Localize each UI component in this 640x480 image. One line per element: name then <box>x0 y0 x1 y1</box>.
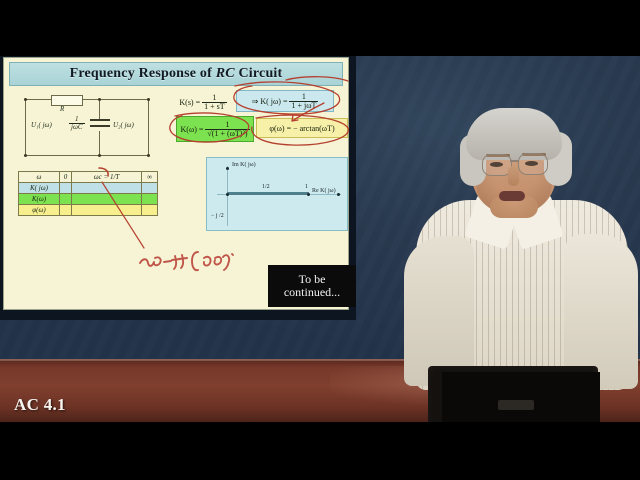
table-row-label: φ(ω) <box>19 205 60 216</box>
wire-cap-top <box>99 99 100 119</box>
letterbox-top <box>0 0 640 56</box>
ink-letter-c-u <box>140 259 154 266</box>
minus-j-half-label: − j /2 <box>211 213 224 219</box>
circuit-node <box>147 154 150 157</box>
table-row-label: K(ω) <box>19 194 60 205</box>
wire-top <box>25 99 149 100</box>
nyquist-plot: Im K( jω) Re K( jω) 1/2 1 − j /2 <box>206 157 348 231</box>
circuit-node <box>24 98 27 101</box>
imag-axis-tip <box>226 167 229 170</box>
ks-num: 1 <box>202 94 227 102</box>
laptop <box>420 366 610 422</box>
wire-cap-bottom <box>99 131 100 155</box>
ink-letter-f1 <box>172 256 180 269</box>
resistor-label: R <box>60 105 64 113</box>
response-values-table: ω 0 ωc = 1/T ∞ K( jω) K(ω) <box>18 171 158 216</box>
cap-num: 1 <box>69 116 85 123</box>
unit-point <box>307 193 310 196</box>
ink-letter-f3 <box>192 252 198 270</box>
ink-period <box>232 254 233 255</box>
kjw-lhs: K( jω) = <box>260 97 287 106</box>
presenter-mouth <box>499 191 525 201</box>
capacitor-plate-top <box>90 119 110 121</box>
tick-label-one: 1 <box>305 184 308 190</box>
projection-screen: Frequency Response of RC Circuit <box>0 56 356 320</box>
capacitor-impedance-label: 1jωC <box>69 116 85 131</box>
lower-third-caption: AC 4.1 Transfer Function, Frequency Resp… <box>14 395 345 422</box>
imag-axis-label: Im K( jω) <box>232 162 256 168</box>
video-player-stage: Frequency Response of RC Circuit <box>0 0 640 480</box>
imaginary-axis <box>227 166 228 226</box>
kjw-den: 1 + jωT <box>289 101 318 110</box>
table-row-label: K( jω) <box>19 183 60 194</box>
slide-title-text: Frequency Response of RC Circuit <box>70 66 283 82</box>
circuit-node <box>147 98 150 101</box>
ink-letter-f2 <box>179 255 187 268</box>
tbc-line-2: continued... <box>284 286 340 299</box>
presenter-left-arm <box>404 236 474 386</box>
presenter <box>398 96 640 381</box>
video-frame: Frequency Response of RC Circuit <box>0 56 640 422</box>
cap-den: jωC <box>69 123 85 131</box>
ink-letter-t <box>154 257 161 265</box>
table-cell <box>60 183 72 194</box>
ks-den: 1 + sT <box>202 102 227 111</box>
circuit-node <box>98 154 101 157</box>
table-cell <box>142 194 158 205</box>
ks-lhs: K(s) = <box>179 98 200 107</box>
to-be-continued-overlay: To be continued... <box>268 265 356 307</box>
table-header-row: ω 0 ωc = 1/T ∞ <box>19 172 158 183</box>
table-header-cell: ∞ <box>142 172 158 183</box>
table-row: K(ω) <box>19 194 158 205</box>
glasses-bridge <box>510 160 519 162</box>
course-code: AC 4.1 <box>14 395 345 415</box>
real-axis-label: Re K( jω) <box>312 188 336 194</box>
ink-letter-r <box>204 257 211 266</box>
table-header-cell: 0 <box>60 172 72 183</box>
slide-title-bar: Frequency Response of RC Circuit <box>9 62 343 86</box>
formula-magnitude: K(ω) = 1√(1 + (ωT)²) <box>176 116 254 142</box>
table-cell <box>71 183 141 194</box>
ink-hyphen <box>164 261 171 262</box>
arrow-symbol: ⇒ <box>252 97 259 106</box>
formula-transfer-function-jomega: ⇒ K( jω) = 11 + jωT <box>236 90 334 112</box>
wire-left <box>25 99 26 155</box>
table-cell <box>142 205 158 216</box>
real-axis-tip <box>337 193 340 196</box>
capacitor-plate-bottom <box>90 125 110 127</box>
circuit-node <box>98 98 101 101</box>
table-cell <box>142 183 158 194</box>
glasses-lens-right <box>518 153 548 175</box>
rc-circuit-diagram: R U₁( jω) U₂( jω) 1jωC <box>13 91 161 169</box>
table-row: K( jω) <box>19 183 158 194</box>
laptop-logo <box>498 400 534 410</box>
resistor-symbol <box>51 95 83 106</box>
presenter-nose <box>508 166 519 186</box>
kjw-num: 1 <box>289 93 318 101</box>
phi-text: φ(ω) = − arctan(ωT) <box>269 124 334 133</box>
table-header-cell: ωc = 1/T <box>71 172 141 183</box>
table-header-cell: ω <box>19 172 60 183</box>
slide-title-italic: RC <box>216 66 235 81</box>
input-voltage-label: U₁( jω) <box>31 121 52 129</box>
kw-num: 1 <box>205 121 249 129</box>
table-cell <box>71 205 141 216</box>
table-cell <box>71 194 141 205</box>
table-row: φ(ω) <box>19 205 158 216</box>
kw-lhs: K(ω) = <box>181 125 204 134</box>
presenter-hair <box>466 108 562 160</box>
wire-right <box>148 99 149 155</box>
formula-phase: φ(ω) = − arctan(ωT) <box>256 118 348 138</box>
table-cell <box>60 194 72 205</box>
origin-point <box>226 193 229 196</box>
kw-den: √(1 + (ωT)²) <box>205 129 249 138</box>
letterbox-bottom <box>0 422 640 480</box>
circuit-node <box>24 154 27 157</box>
ink-letter-e <box>214 257 221 264</box>
locus-line <box>227 192 309 195</box>
formula-transfer-function-s: K(s) = 11 + sT <box>172 92 234 112</box>
table-cell <box>60 205 72 216</box>
tick-label-half: 1/2 <box>262 184 270 190</box>
wire-bottom <box>25 155 149 156</box>
laptop-lid-inner <box>442 372 600 422</box>
output-voltage-label: U₂( jω) <box>113 121 134 129</box>
laptop-lid <box>428 366 598 422</box>
ink-letter-q <box>223 255 229 270</box>
